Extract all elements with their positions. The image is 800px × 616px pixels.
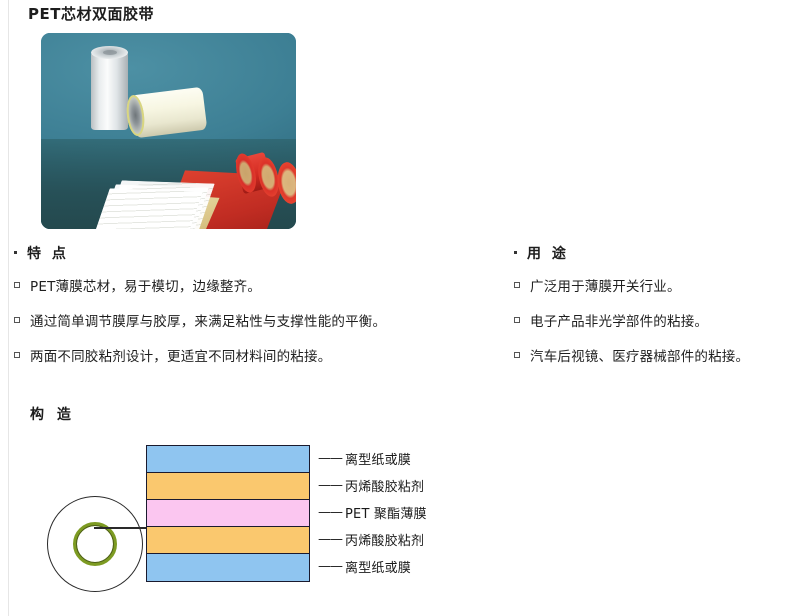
layer-label-text: PET 聚酯薄膜 [345,503,427,522]
leader-dash: —— [318,505,342,520]
use-item-label: 广泛用于薄膜开关行业。 [530,275,681,295]
layer-labels: —— 离型纸或膜 —— 丙烯酸胶粘剂 —— PET 聚酯薄膜 —— 丙烯酸胶粘剂… [318,445,518,580]
tape-roll-core-inner-ring [76,525,114,563]
layer-stack [146,445,310,582]
layer-label-text: 离型纸或膜 [345,557,411,576]
structure-heading: 构 造 [30,404,75,424]
leader-dash: —— [318,532,342,547]
photo-silver-tape-roll-core [103,50,117,55]
feature-item: 通过简单调节膜厚与胶厚，来满足粘性与支撑性能的平衡。 [14,310,494,330]
tape-roll-icon [47,496,145,594]
hollow-square-bullet-icon [14,317,20,323]
hollow-square-bullet-icon [514,352,520,358]
feature-item-label: PET薄膜芯材，易于模切，边缘整齐。 [30,275,261,295]
hollow-square-bullet-icon [514,282,520,288]
page-title: PET芯材双面胶带 [28,3,154,24]
hollow-square-bullet-icon [14,282,20,288]
structure-diagram: —— 离型纸或膜 —— 丙烯酸胶粘剂 —— PET 聚酯薄膜 —— 丙烯酸胶粘剂… [0,434,520,604]
features-heading: 特 点 [14,243,494,263]
layer-acrylic-adhesive-top [147,473,309,500]
uses-heading-label: 用 途 [527,243,569,263]
hollow-square-bullet-icon [14,352,20,358]
use-item-label: 汽车后视镜、医疗器械部件的粘接。 [530,345,749,365]
features-section: 特 点 PET薄膜芯材，易于模切，边缘整齐。 通过简单调节膜厚与胶厚，来满足粘性… [14,243,494,380]
leader-dash: —— [318,478,342,493]
leader-dash: —— [318,559,342,574]
feature-item-label: 通过简单调节膜厚与胶厚，来满足粘性与支撑性能的平衡。 [30,310,386,330]
layer-label-row: —— 丙烯酸胶粘剂 [318,526,518,553]
layer-release-liner-top [147,446,309,473]
photo-silver-tape-roll [91,52,128,130]
layer-release-liner-bottom [147,554,309,581]
hollow-square-bullet-icon [514,317,520,323]
layer-label-row: —— 离型纸或膜 [318,445,518,472]
layer-label-text: 丙烯酸胶粘剂 [345,476,424,495]
layer-label-row: —— PET 聚酯薄膜 [318,499,518,526]
feature-item: 两面不同胶粘剂设计，更适宜不同材料间的粘接。 [14,345,494,365]
uses-section: 用 途 广泛用于薄膜开关行业。 电子产品非光学部件的粘接。 汽车后视镜、医疗器械… [514,243,794,380]
uses-heading: 用 途 [514,243,794,263]
use-item: 广泛用于薄膜开关行业。 [514,275,794,295]
square-bullet-icon [514,251,517,254]
layer-pet-polyester-film [147,500,309,527]
use-item: 汽车后视镜、医疗器械部件的粘接。 [514,345,794,365]
leader-dash: —— [318,451,342,466]
feature-item: PET薄膜芯材，易于模切，边缘整齐。 [14,275,494,295]
use-item-label: 电子产品非光学部件的粘接。 [530,310,708,330]
layer-label-text: 离型纸或膜 [345,449,411,468]
layer-label-row: —— 丙烯酸胶粘剂 [318,472,518,499]
layer-label-text: 丙烯酸胶粘剂 [345,530,424,549]
product-photo [41,33,296,229]
use-item: 电子产品非光学部件的粘接。 [514,310,794,330]
features-heading-label: 特 点 [27,243,69,263]
layer-label-row: —— 离型纸或膜 [318,553,518,580]
square-bullet-icon [14,251,17,254]
feature-item-label: 两面不同胶粘剂设计，更适宜不同材料间的粘接。 [30,345,331,365]
tape-roll-tail-line [94,527,150,529]
layer-acrylic-adhesive-bottom [147,527,309,554]
